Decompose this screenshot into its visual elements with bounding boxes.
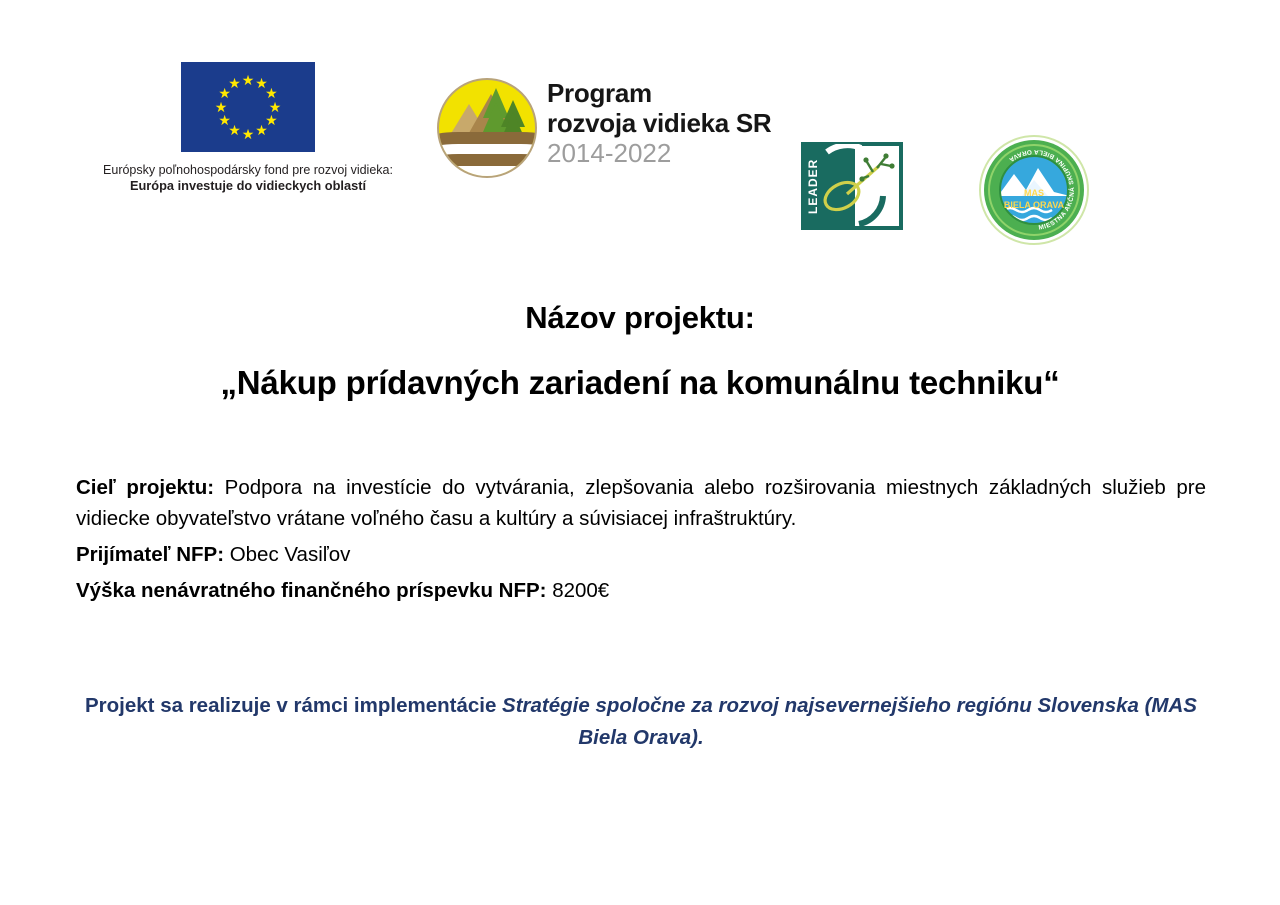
prv-line-2: rozvoja vidieka SR xyxy=(547,108,771,138)
mas-biela-orava-logo-icon: MAS BIELA ORAVA MIESTNA AKČNÁ SKUPINA BI… xyxy=(978,134,1090,246)
prv-wordmark: Program rozvoja vidieka SR 2014-2022 xyxy=(547,78,771,169)
strategy-statement: Projekt sa realizuje v rámci implementác… xyxy=(76,690,1206,754)
eu-caption-line2: Európa investuje do vidieckych oblastí xyxy=(78,178,418,194)
logo-bar: ★★★★★★★★★★★★ Európsky poľnohospodársky f… xyxy=(0,62,1280,222)
project-goal-text: Podpora na investície do vytvárania, zle… xyxy=(76,476,1206,530)
strategy-prefix: Projekt sa realizuje v rámci implementác… xyxy=(85,694,502,717)
eu-star-icon: ★ xyxy=(242,128,255,141)
amount-value: 8200€ xyxy=(547,579,610,602)
leader-logo-icon: LEADER xyxy=(801,142,903,230)
mas-inner-line1: MAS xyxy=(1024,188,1044,198)
beneficiary-value: Obec Vasiľov xyxy=(224,543,350,566)
eu-logo-block: ★★★★★★★★★★★★ Európsky poľnohospodársky f… xyxy=(78,62,418,194)
beneficiary-line: Prijímateľ NFP: Obec Vasiľov xyxy=(76,537,1206,573)
page-title: „Nákup prídavných zariadení na komunálnu… xyxy=(0,358,1280,408)
project-goal-paragraph: Cieľ projektu: Podpora na investície do … xyxy=(76,472,1206,534)
strategy-statement-text: Projekt sa realizuje v rámci implementác… xyxy=(76,690,1206,754)
prv-logo-block: Program rozvoja vidieka SR 2014-2022 xyxy=(437,78,787,178)
eu-star-icon: ★ xyxy=(228,77,241,90)
eu-star-icon: ★ xyxy=(218,114,231,127)
european-union-flag-icon: ★★★★★★★★★★★★ xyxy=(181,62,315,152)
prv-emblem-icon xyxy=(437,78,537,178)
prv-line-3: 2014-2022 xyxy=(547,138,771,169)
project-title-block: Názov projektu: „Nákup prídavných zariad… xyxy=(0,296,1280,408)
field-stripe xyxy=(437,166,537,178)
strategy-emphasis: Stratégie spoločne za rozvoj najsevernej… xyxy=(502,694,1197,749)
amount-label: Výška nenávratného finančného príspevku … xyxy=(76,579,547,602)
eu-star-icon: ★ xyxy=(242,74,255,87)
mas-inner-line2: BIELA ORAVA xyxy=(1004,200,1065,210)
page-title-label: Názov projektu: xyxy=(0,296,1280,340)
eu-caption-line1: Európsky poľnohospodársky fond pre rozvo… xyxy=(78,162,418,178)
project-details: Cieľ projektu: Podpora na investície do … xyxy=(76,472,1206,609)
amount-line: Výška nenávratného finančného príspevku … xyxy=(76,573,1206,609)
prv-line-1: Program xyxy=(547,78,771,108)
project-goal-label: Cieľ projektu: xyxy=(76,476,214,499)
eu-caption: Európsky poľnohospodársky fond pre rozvo… xyxy=(78,162,418,194)
leader-plant-icon xyxy=(819,144,899,230)
eu-star-icon: ★ xyxy=(215,101,228,114)
beneficiary-label: Prijímateľ NFP: xyxy=(76,543,224,566)
eu-star-icon: ★ xyxy=(255,124,268,137)
